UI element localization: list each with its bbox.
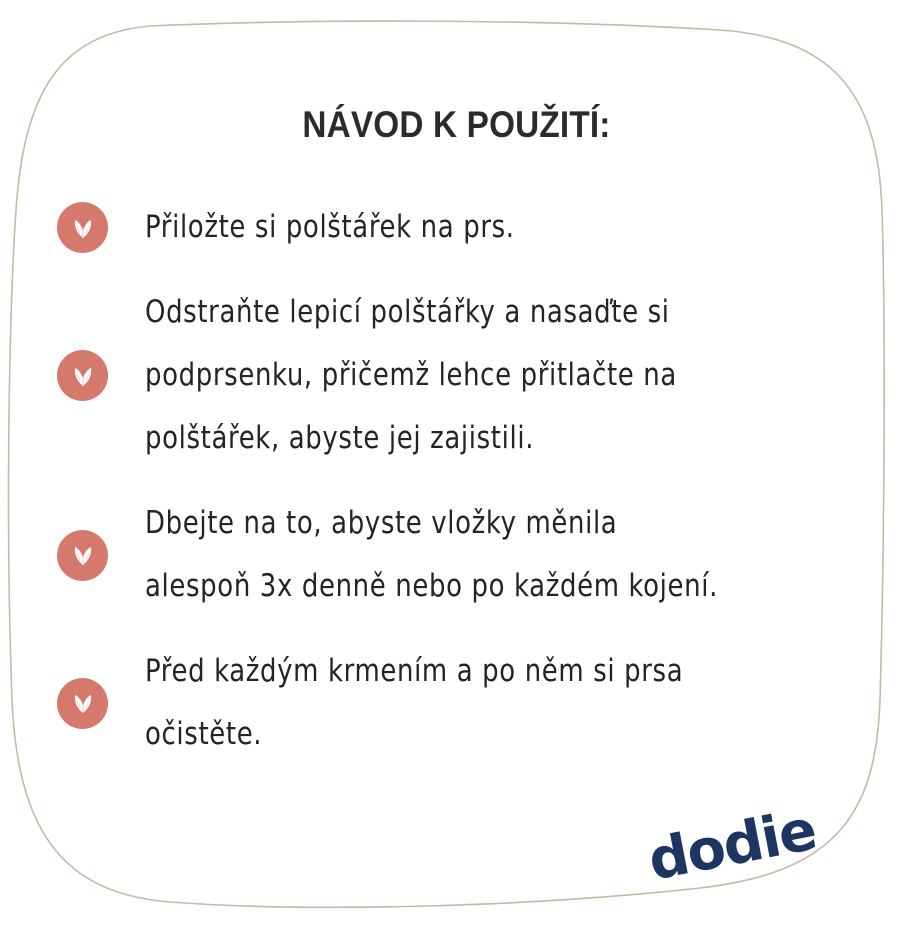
bullet-container	[0, 202, 145, 253]
instructions-card: NÁVOD K POUŽITÍ: Přiložte si polštářek n…	[0, 0, 913, 940]
list-item: Dbejte na to, abyste vložky měnila alesp…	[0, 492, 913, 618]
brand-logo-text: dodie	[642, 791, 824, 902]
list-item: Přiložte si polštářek na prs.	[0, 196, 913, 259]
leaf-icon	[57, 350, 108, 401]
list-item: Odstraňte lepicí polštářky a nasaďte si …	[0, 281, 913, 470]
brand-logo: dodie	[642, 791, 824, 902]
bullet-container	[0, 678, 145, 729]
page-title: NÁVOD K POUŽITÍ:	[46, 104, 868, 146]
list-item-text: Před každým krmením a po něm si prsa oči…	[145, 640, 859, 766]
instruction-list: Přiložte si polštářek na prs. Odstraňte …	[0, 196, 913, 788]
list-item-text: Odstraňte lepicí polštářky a nasaďte si …	[145, 281, 859, 470]
list-item-text: Dbejte na to, abyste vložky měnila alesp…	[145, 492, 859, 618]
list-item-text: Přiložte si polštářek na prs.	[145, 196, 859, 259]
bullet-container	[0, 350, 145, 401]
list-item: Před každým krmením a po něm si prsa oči…	[0, 640, 913, 766]
leaf-icon	[57, 202, 108, 253]
leaf-icon	[57, 678, 108, 729]
leaf-icon	[57, 530, 108, 581]
bullet-container	[0, 530, 145, 581]
